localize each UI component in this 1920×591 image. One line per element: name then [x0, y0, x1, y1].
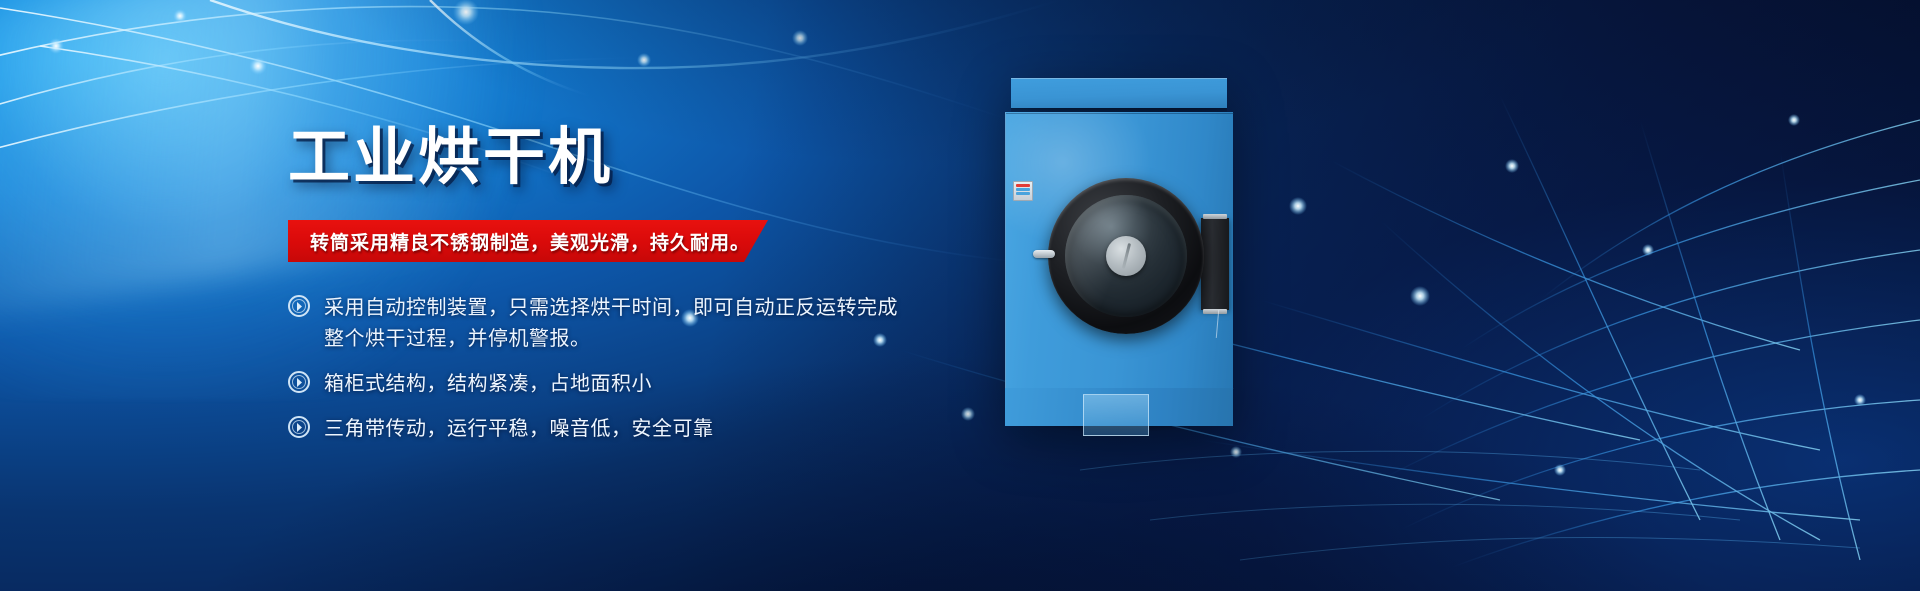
- machine-drum-hub: [1106, 236, 1146, 276]
- banner-content: 工业烘干机 转筒采用精良不锈钢制造，美观光滑，持久耐用。 采用自动控制装置，只需…: [288, 126, 988, 458]
- machine-door-glass: [1065, 195, 1187, 317]
- machine-control-panel: [1013, 181, 1033, 201]
- list-item: 箱柜式结构，结构紧凑，占地面积小: [288, 368, 988, 399]
- highlight-banner-text: 转筒采用精良不锈钢制造，美观光滑，持久耐用。: [310, 220, 750, 262]
- machine-door-hinge: [1201, 218, 1229, 310]
- machine-door: [1048, 178, 1204, 334]
- feature-text: 箱柜式结构，结构紧凑，占地面积小: [324, 368, 652, 399]
- hero-banner: 工业烘干机 转筒采用精良不锈钢制造，美观光滑，持久耐用。 采用自动控制装置，只需…: [0, 0, 1920, 591]
- feature-text: 三角带传动，运行平稳，噪音低，安全可靠: [324, 413, 714, 444]
- highlight-banner: 转筒采用精良不锈钢制造，美观光滑，持久耐用。: [288, 220, 768, 262]
- feature-list: 采用自动控制装置，只需选择烘干时间，即可自动正反运转完成 整个烘干过程，并停机警…: [288, 292, 988, 444]
- chevron-circle-icon: [288, 295, 310, 317]
- machine-door-latch: [1033, 250, 1055, 258]
- machine-lower-hatch: [1083, 394, 1149, 436]
- machine-top-cap: [1011, 78, 1227, 108]
- industrial-dryer-machine: [1005, 78, 1233, 428]
- list-item: 采用自动控制装置，只需选择烘干时间，即可自动正反运转完成 整个烘干过程，并停机警…: [288, 292, 988, 354]
- chevron-circle-icon: [288, 371, 310, 393]
- page-title: 工业烘干机: [288, 126, 988, 188]
- list-item: 三角带传动，运行平稳，噪音低，安全可靠: [288, 413, 988, 444]
- feature-text: 采用自动控制装置，只需选择烘干时间，即可自动正反运转完成 整个烘干过程，并停机警…: [324, 292, 898, 354]
- chevron-circle-icon: [288, 416, 310, 438]
- machine-seam: [1006, 113, 1234, 114]
